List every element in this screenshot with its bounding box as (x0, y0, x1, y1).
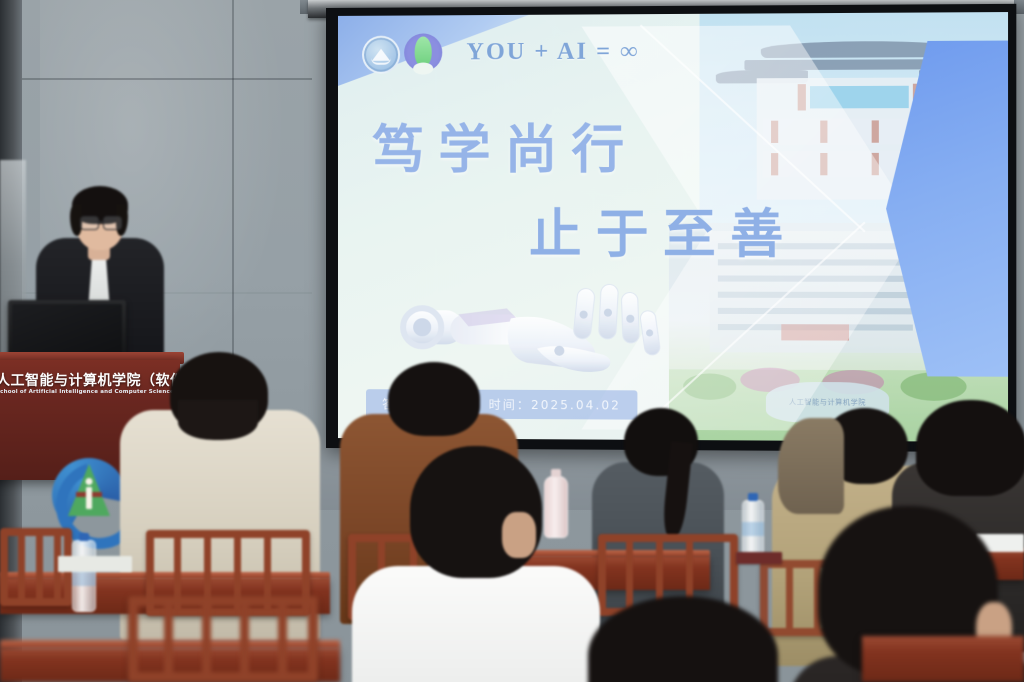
jiangnan-university-seal-icon (362, 36, 400, 74)
water-bottle-right (742, 500, 764, 556)
slide-motto-line-1: 笃学尚行 (372, 107, 638, 183)
glasses-right-lens-icon (103, 216, 122, 230)
ai-school-emblem-icon (404, 33, 442, 71)
podium-sign-english: School of Artificial Intelligence and Co… (0, 389, 176, 395)
podium-monitor-screen (12, 304, 122, 356)
notebook-right (736, 552, 782, 564)
chair-6 (128, 596, 318, 682)
ai-school-logo-placard (52, 458, 126, 532)
podium-sign-chinese: 人工智能与计算机学院（软件学院） (0, 370, 176, 390)
thermos-bottle (544, 476, 568, 538)
glasses-bridge-icon (97, 221, 103, 223)
water-bottle-left (72, 540, 96, 612)
slide-tagline: YOU + AI = ∞ (466, 38, 639, 66)
papers-left (58, 556, 132, 572)
ear (502, 512, 536, 558)
desk-front-right (862, 636, 1024, 682)
glasses-left-lens-icon (80, 216, 99, 230)
wall-seam-horizontal (22, 78, 312, 80)
lecture-room-photo: 人工智能与计算机学院 JIANGNAN UNIVERSITY (0, 0, 1024, 682)
logo-letter-i-stem (86, 487, 92, 509)
logo-letter-i-dot (86, 478, 93, 485)
slide-motto-line-2: 止于至善 (529, 192, 798, 268)
